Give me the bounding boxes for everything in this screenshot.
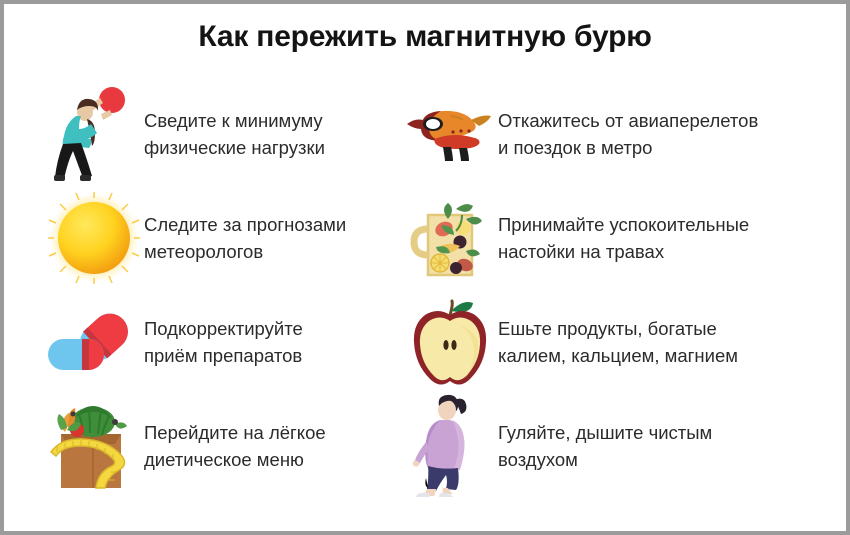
tip-herbal-sedatives: Принимайте успокоительные настойки на тр… [384,186,846,290]
tips-grid: Сведите к минимуму физические нагрузки [4,82,846,522]
tip-potassium-calcium-magnesium-foods: Ешьте продукты, богатые калием, кальцием… [384,290,846,394]
sun-icon [48,190,140,286]
tip-label: Подкорректируйте приём препаратов [144,315,303,370]
woman-exercising-with-ball-icon [48,86,140,182]
infographic-root: Как пережить магнитную бурю [0,0,850,535]
tip-follow-weather-forecast: Следите за прогнозами метеорологов [4,186,384,290]
tip-label: Следите за прогнозами метеорологов [144,211,346,266]
grocery-bag-measuring-tape-icon [48,398,140,494]
herbal-infusion-mug-icon [404,190,496,286]
infographic-canvas: Как пережить магнитную бурю [4,4,846,531]
tip-label: Гуляйте, дышите чистым воздухом [498,419,712,474]
tip-label: Сведите к минимуму физические нагрузки [144,107,325,162]
tip-walk-fresh-air: Гуляйте, дышите чистым воздухом [384,394,846,498]
tip-adjust-medication: Подкорректируйте приём препаратов [4,290,384,394]
tip-label: Откажитесь от авиаперелетов и поездок в … [498,107,758,162]
pills-capsules-icon [48,294,140,390]
page-title: Как пережить магнитную бурю [4,20,846,54]
tip-label: Ешьте продукты, богатые калием, кальцием… [498,315,738,370]
tip-label: Принимайте успокоительные настойки на тр… [498,211,749,266]
tip-avoid-flights-and-metro: Откажитесь от авиаперелетов и поездок в … [384,82,846,186]
halved-apple-icon [404,294,496,390]
tip-reduce-physical-activity: Сведите к минимуму физические нагрузки [4,82,384,186]
tip-light-diet-menu: Перейдите на лёгкое диетическое меню [4,394,384,498]
tip-label: Перейдите на лёгкое диетическое меню [144,419,326,474]
walking-person-icon [404,398,496,494]
airplane-icon [404,86,496,182]
